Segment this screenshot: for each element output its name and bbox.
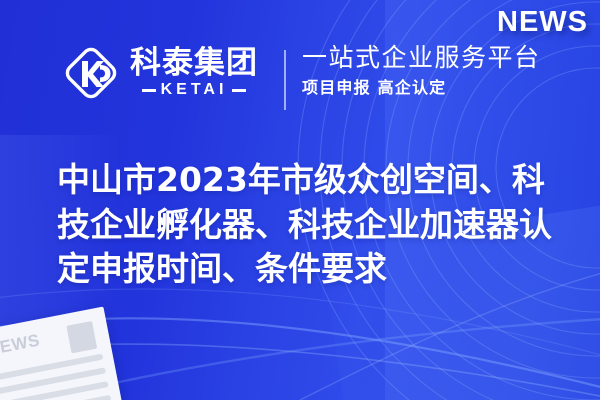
slogan-block: 一站式企业服务平台 项目申报 高企认定 <box>302 44 541 99</box>
news-tag: NEWS <box>497 6 588 39</box>
brand-name-en: KETAI <box>161 82 228 98</box>
brand-logo[interactable]: 科泰集团 KETAI <box>62 44 258 102</box>
paper-thumbnail-block <box>66 321 97 353</box>
brand-name-cn: 科泰集团 <box>130 48 258 79</box>
banner-header: 科泰集团 KETAI 一站式企业服务平台 项目申报 高企认定 NEWS <box>0 0 600 140</box>
page-title: 中山市2023年市级众创空间、科技企业孵化器、科技企业加速器认定申报时间、条件要… <box>57 158 569 292</box>
brand-name-en-row: KETAI <box>130 82 258 98</box>
header-divider <box>284 50 286 110</box>
dash-right-icon <box>232 89 246 92</box>
dash-left-icon <box>142 89 156 92</box>
news-banner: 科泰集团 KETAI 一站式企业服务平台 项目申报 高企认定 NEWS 中山市2… <box>0 0 600 400</box>
slogan-main: 一站式企业服务平台 <box>302 44 541 73</box>
brand-logo-wordmark: 科泰集团 KETAI <box>130 48 258 98</box>
slogan-sub: 项目申报 高企认定 <box>302 77 541 99</box>
ketai-diamond-k-logo-icon <box>62 44 120 102</box>
